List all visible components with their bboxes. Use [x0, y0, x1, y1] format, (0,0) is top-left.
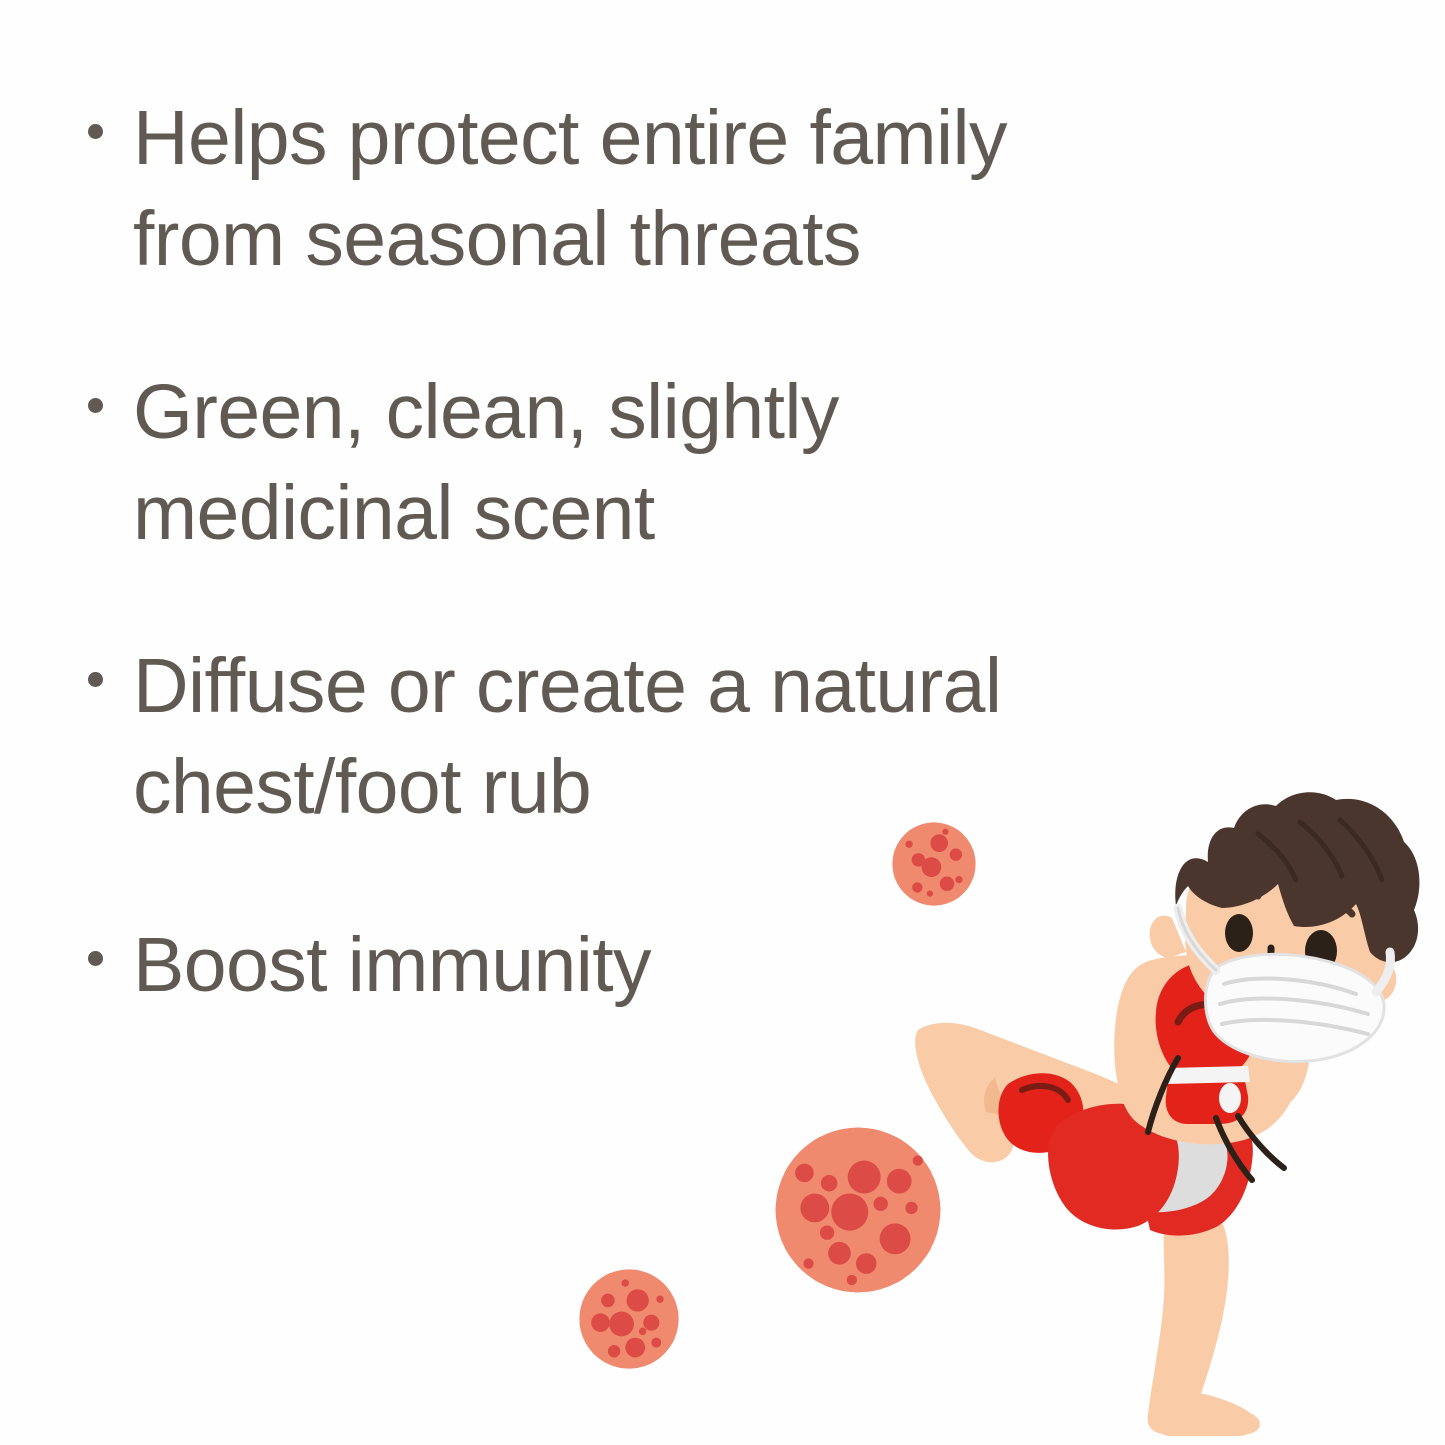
kicking-leg	[915, 1023, 1172, 1180]
mouth	[1342, 988, 1372, 1006]
mask-ear-strap-right	[1376, 952, 1390, 992]
bullet-dot-icon	[88, 951, 103, 966]
kicking-leg-shade	[984, 1078, 1014, 1118]
eyebrow-right	[1308, 905, 1352, 916]
standing-leg	[1148, 1204, 1260, 1434]
eyebrow-left	[1224, 889, 1258, 898]
bullet-dot-icon	[88, 672, 103, 687]
eye-left	[1225, 914, 1253, 952]
eye-right	[1305, 930, 1337, 972]
list-item: Green, clean, slightly medicinal scent	[88, 362, 839, 564]
virus-small-left-icon	[579, 1269, 679, 1368]
ear-left	[1150, 916, 1186, 958]
face-mask-icon	[1178, 908, 1390, 1062]
list-item: Diffuse or create a natural chest/foot r…	[88, 636, 1001, 838]
torso-shade	[1254, 1004, 1294, 1098]
glove-strap	[1148, 1058, 1284, 1180]
foot-guard-icon	[998, 1073, 1104, 1153]
hair-strands	[1258, 820, 1382, 880]
torso	[1114, 955, 1302, 1144]
bullet-text-0: Helps protect entire family from seasona…	[133, 88, 1007, 290]
bare-foot	[1154, 1391, 1257, 1436]
boy-character	[915, 792, 1419, 1436]
shorts-red-thigh	[1048, 1104, 1179, 1230]
bullet-text-1: Green, clean, slightly medicinal scent	[133, 362, 839, 564]
list-item: Boost immunity	[88, 915, 651, 1016]
poster-canvas: Helps protect entire family from seasona…	[0, 0, 1445, 1445]
bullet-text-3: Boost immunity	[133, 915, 651, 1016]
shorts-white-panel	[1119, 1102, 1253, 1222]
bullet-text-2: Diffuse or create a natural chest/foot r…	[133, 636, 1001, 838]
list-item: Helps protect entire family from seasona…	[88, 88, 1007, 290]
shorts-red	[1070, 1101, 1253, 1236]
guard-arm	[1232, 990, 1311, 1113]
bullet-dot-icon	[88, 124, 103, 139]
hair	[1175, 792, 1419, 962]
boxing-glove-icon	[1156, 962, 1259, 1124]
bullet-dot-icon	[88, 398, 103, 413]
virus-large-bottom-icon	[776, 1128, 941, 1293]
mask-ear-strap	[1178, 908, 1216, 970]
nose	[1271, 948, 1284, 962]
face	[1185, 838, 1382, 1025]
ear-right	[1366, 959, 1396, 1002]
